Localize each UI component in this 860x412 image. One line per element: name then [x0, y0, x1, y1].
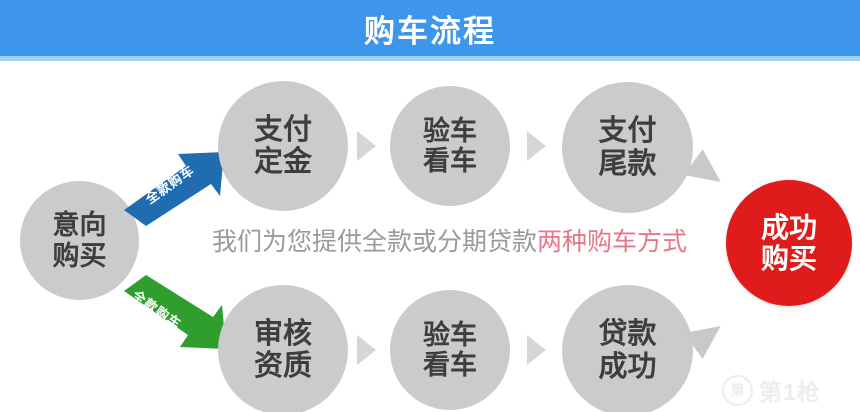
- step-arrow-bottom-1-icon: [357, 335, 376, 365]
- center-note-gray: 我们为您提供全款或分期贷款: [212, 222, 537, 258]
- node-top-1-line2: 定金: [254, 146, 312, 178]
- flowchart-canvas: 购车流程 意向 购买 全款购车 全款购车 支付 定金 验车 看车 支付 尾款 审…: [0, 0, 860, 412]
- node-bottom-2-line2: 看车: [423, 350, 477, 380]
- node-top-2[interactable]: 验车 看车: [390, 86, 510, 206]
- node-top-3[interactable]: 支付 尾款: [562, 82, 693, 213]
- node-bottom-3-line1: 贷款: [598, 318, 656, 350]
- node-success[interactable]: 成功 购买: [726, 180, 852, 306]
- node-bottom-2[interactable]: 验车 看车: [390, 290, 510, 410]
- center-note-red: 两种购车方式: [537, 222, 687, 258]
- node-top-1[interactable]: 支付 定金: [218, 81, 348, 211]
- node-success-line1: 成功: [761, 212, 817, 243]
- watermark: 第 第1枪: [722, 372, 854, 408]
- step-arrow-bottom-2-icon: [527, 335, 546, 365]
- node-top-2-line2: 看车: [423, 146, 477, 176]
- node-intent[interactable]: 意向 购买: [20, 181, 139, 300]
- node-top-2-line1: 验车: [423, 116, 477, 146]
- node-top-3-line2: 尾款: [598, 148, 656, 180]
- title-underline: [0, 56, 860, 61]
- branch-arrow-installment[interactable]: 全款购车: [124, 275, 234, 350]
- node-bottom-2-line1: 验车: [423, 320, 477, 350]
- node-bottom-3[interactable]: 贷款 成功: [562, 285, 693, 412]
- center-note: 我们为您提供全款或分期贷款 两种购车方式: [212, 222, 692, 258]
- step-arrow-top-1-icon: [357, 131, 376, 161]
- branch-arrow-full-payment[interactable]: 全款购车: [124, 152, 234, 227]
- step-arrow-top-2-icon: [527, 131, 546, 161]
- node-success-line2: 购买: [761, 243, 817, 274]
- node-intent-line2: 购买: [53, 241, 107, 271]
- watermark-text: 第1枪: [759, 373, 821, 407]
- watermark-logo-icon: 第: [722, 375, 753, 406]
- node-bottom-3-line2: 成功: [598, 351, 656, 383]
- page-title: 购车流程: [0, 0, 860, 56]
- node-bottom-1[interactable]: 审核 资质: [218, 285, 348, 412]
- node-top-1-line1: 支付: [254, 114, 312, 146]
- node-bottom-1-line2: 资质: [254, 350, 312, 382]
- node-intent-line1: 意向: [53, 210, 107, 240]
- node-bottom-1-line1: 审核: [254, 318, 312, 350]
- node-top-3-line1: 支付: [598, 115, 656, 147]
